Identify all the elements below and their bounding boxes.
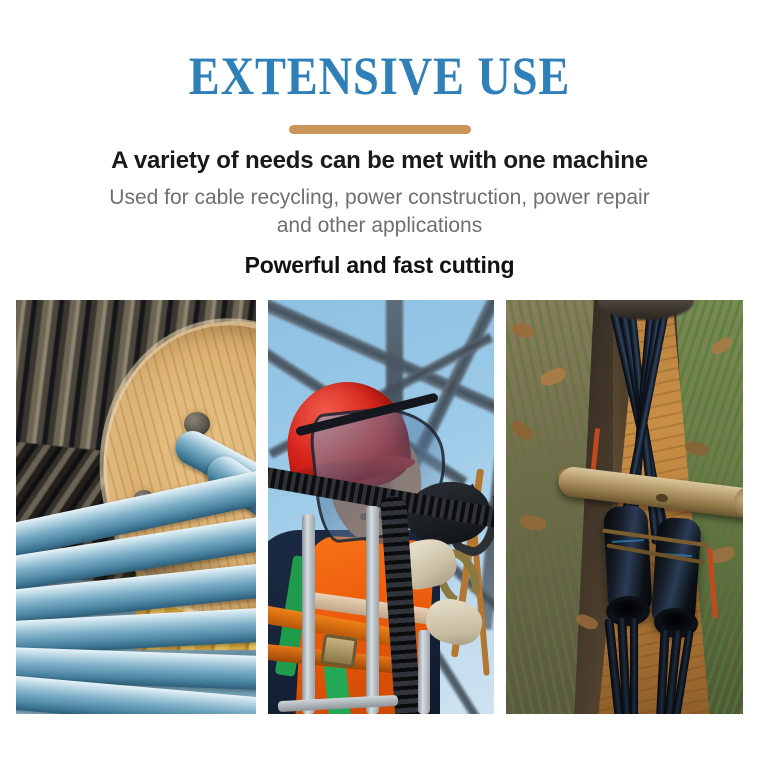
body-description: Used for cable recycling, power construc… <box>0 184 759 240</box>
promo-banner: EXTENSIVE USE A variety of needs can be … <box>0 0 759 778</box>
title-divider-wrap <box>0 125 759 134</box>
lineman-worker-photo <box>268 300 494 714</box>
title-divider <box>289 125 471 134</box>
subheading: A variety of needs can be met with one m… <box>0 146 759 176</box>
page-title: EXTENSIVE USE <box>53 47 706 105</box>
image-gallery <box>16 300 743 714</box>
cable-trench-photo <box>506 300 743 714</box>
cable-drum-photo <box>16 300 256 714</box>
tagline: Powerful and fast cutting <box>0 250 759 280</box>
